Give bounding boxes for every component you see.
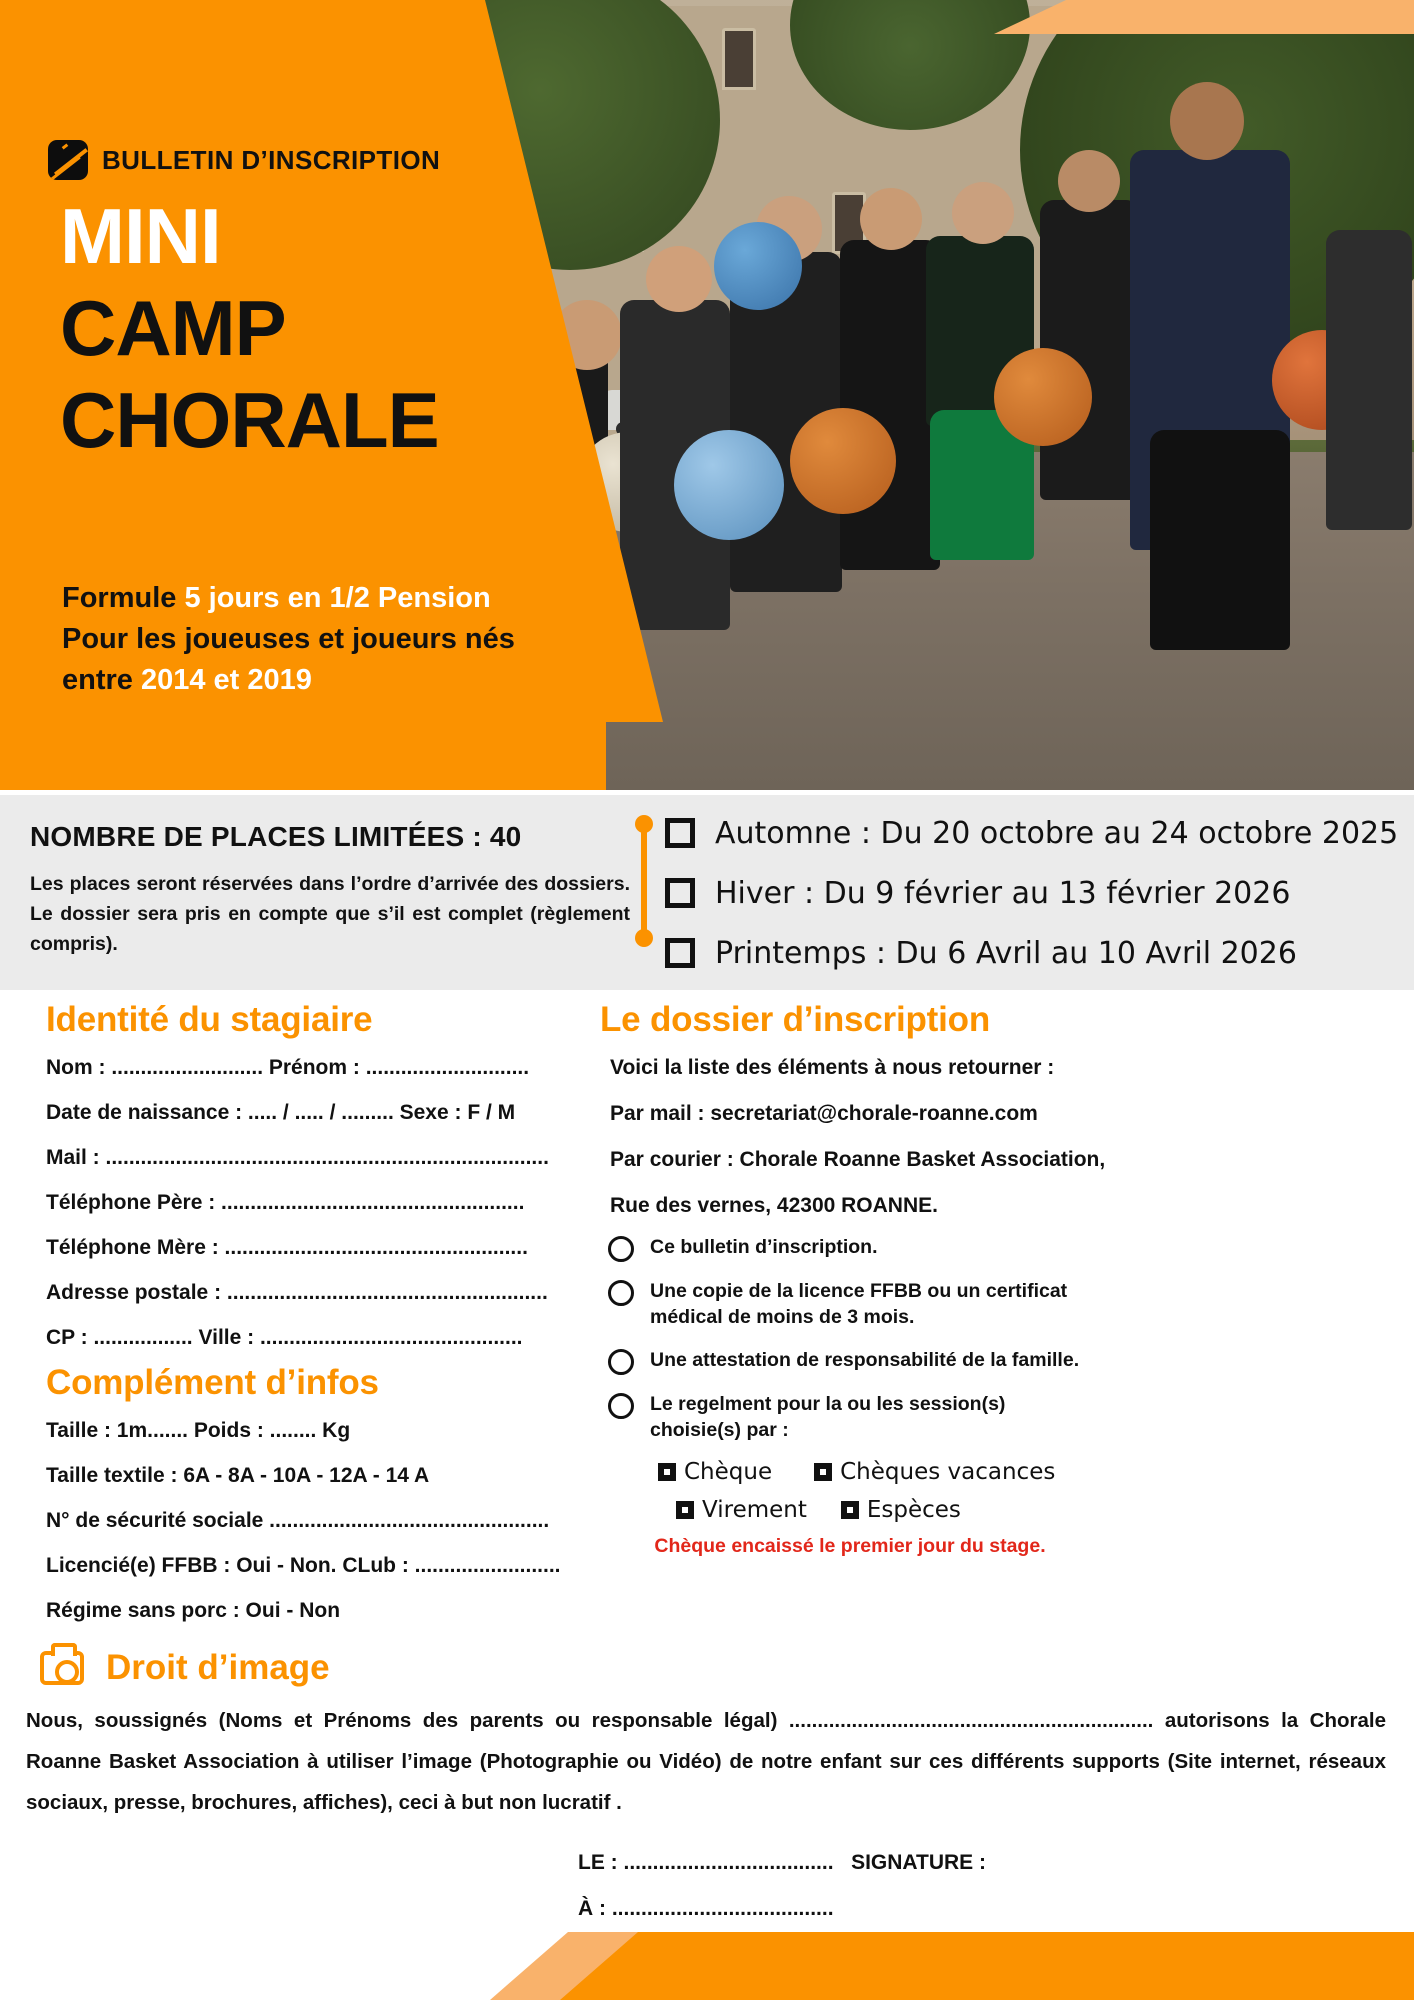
field-telephone-pere[interactable]: Téléphone Père : .......................…: [46, 1183, 598, 1222]
checklist-label-attestation: Une attestation de responsabilité de la …: [650, 1347, 1080, 1373]
checklist-circle-bulletin[interactable]: [608, 1236, 634, 1262]
payment-label-cheques-vacances: Chèques vacances: [840, 1459, 1055, 1485]
field-cp-ville[interactable]: CP : ................. Ville : .........…: [46, 1318, 598, 1357]
subtitle-formule-label: Formule: [62, 582, 184, 614]
field-adresse-postale[interactable]: Adresse postale : ......................…: [46, 1273, 598, 1312]
dossier-lead-1: Voici la liste des éléments à nous retou…: [610, 1048, 1120, 1088]
field-date-naissance-sexe[interactable]: Date de naissance : ..... / ..... / ....…: [46, 1093, 598, 1132]
checklist-label-reglement: Le regelment pour la ou les session(s) c…: [650, 1391, 1080, 1444]
payment-label-cheque: Chèque: [684, 1459, 772, 1485]
camera-icon: [40, 1651, 84, 1685]
checklist-item-licence[interactable]: Une copie de la licence FFBB ou un certi…: [600, 1278, 1120, 1331]
session-checkbox-automne[interactable]: [665, 818, 695, 848]
payment-checkbox-especes[interactable]: [841, 1501, 859, 1519]
connector-line: [635, 815, 653, 945]
section-title-complement: Complément d’infos: [46, 1363, 598, 1403]
droit-image-text: Nous, soussignés (Noms et Prénoms des pa…: [26, 1700, 1386, 1823]
title-line-1: MINI: [60, 190, 439, 282]
field-securite-sociale[interactable]: N° de sécurité sociale .................…: [46, 1501, 598, 1540]
right-form-column: Le dossier d’inscription Voici la liste …: [600, 1000, 1120, 1558]
signature-block: LE : ...................................…: [578, 1840, 986, 1932]
field-taille-textile[interactable]: Taille textile : 6A - 8A - 10A - 12A - 1…: [46, 1456, 598, 1495]
section-title-dossier: Le dossier d’inscription: [600, 1000, 1120, 1040]
places-title: NOMBRE DE PLACES LIMITÉES : 40: [30, 821, 650, 853]
place-label[interactable]: À : ....................................…: [578, 1886, 986, 1932]
field-taille-poids[interactable]: Taille : 1m....... Poids : ........ Kg: [46, 1411, 598, 1450]
date-label: LE : ...................................…: [578, 1851, 834, 1874]
payment-checkbox-cheque[interactable]: [658, 1463, 676, 1481]
session-row-printemps[interactable]: Printemps : Du 6 Avril au 10 Avril 2026: [665, 931, 1398, 975]
session-row-automne[interactable]: Automne : Du 20 octobre au 24 octobre 20…: [665, 811, 1398, 855]
subtitle-years-label: entre: [62, 664, 141, 696]
payment-option-especes[interactable]: Espèces: [841, 1497, 961, 1523]
places-note: Les places seront réservées dans l’ordre…: [30, 869, 630, 960]
section-title-identite: Identité du stagiaire: [46, 1000, 598, 1040]
session-checkbox-printemps[interactable]: [665, 938, 695, 968]
flyer-page: BULLETIN D’INSCRIPTION MINI CAMP CHORALE…: [0, 0, 1414, 2000]
payment-row-2: Virement Espèces: [600, 1497, 1120, 1523]
payment-option-virement[interactable]: Virement: [676, 1497, 807, 1523]
session-list: Automne : Du 20 octobre au 24 octobre 20…: [665, 811, 1398, 991]
payment-option-cheques-vacances[interactable]: Chèques vacances: [814, 1459, 1055, 1485]
field-licence-club[interactable]: Licencié(e) FFBB : Oui - Non. CLub : ...…: [46, 1546, 598, 1585]
footer-accent-orange: [560, 1932, 1414, 2000]
payment-warning: Chèque encaissé le premier jour du stage…: [600, 1535, 1100, 1558]
dossier-checklist: Ce bulletin d’inscription. Une copie de …: [600, 1234, 1120, 1443]
session-label-automne: Automne : Du 20 octobre au 24 octobre 20…: [715, 816, 1398, 851]
payment-option-cheque[interactable]: Chèque: [658, 1459, 772, 1485]
checklist-item-reglement[interactable]: Le regelment pour la ou les session(s) c…: [600, 1391, 1120, 1444]
signature-label: SIGNATURE :: [851, 1851, 986, 1874]
session-row-hiver[interactable]: Hiver : Du 9 février au 13 février 2026: [665, 871, 1398, 915]
title-line-2: CAMP: [60, 282, 439, 374]
checklist-item-bulletin[interactable]: Ce bulletin d’inscription.: [600, 1234, 1120, 1262]
field-mail[interactable]: Mail : .................................…: [46, 1138, 598, 1177]
payment-label-especes: Espèces: [867, 1497, 961, 1523]
title-line-3: CHORALE: [60, 374, 439, 466]
brand-label: BULLETIN D’INSCRIPTION: [102, 145, 440, 176]
section-title-droit-image: Droit d’image: [106, 1648, 330, 1688]
payment-row-1: Chèque Chèques vacances: [600, 1459, 1120, 1485]
left-form-column: Identité du stagiaire Nom : ............…: [38, 1000, 598, 1636]
hero-subtitle: Formule 5 jours en 1/2 Pension Pour les …: [62, 578, 532, 702]
checklist-circle-reglement[interactable]: [608, 1393, 634, 1419]
droit-image-header: Droit d’image: [40, 1648, 330, 1688]
checklist-label-bulletin: Ce bulletin d’inscription.: [650, 1234, 1080, 1260]
field-nom-prenom[interactable]: Nom : .......................... Prénom …: [46, 1048, 598, 1087]
field-regime-sans-porc[interactable]: Régime sans porc : Oui - Non: [46, 1591, 598, 1630]
dossier-lead-mail: Par mail : secretariat@chorale-roanne.co…: [610, 1094, 1120, 1134]
session-checkbox-hiver[interactable]: [665, 878, 695, 908]
page-title: MINI CAMP CHORALE: [60, 190, 439, 466]
brand-line: BULLETIN D’INSCRIPTION: [48, 140, 440, 180]
connector-dot-bottom: [635, 929, 653, 947]
dossier-lead-address: Rue des vernes, 42300 ROANNE.: [610, 1186, 1120, 1226]
hero-corner-accent: [994, 0, 1414, 34]
subtitle-years-value: 2014 et 2019: [141, 664, 312, 696]
connector-bar: [641, 823, 647, 939]
subtitle-formule-value: 5 jours en 1/2 Pension: [184, 582, 490, 614]
dossier-lead-courier: Par courier : Chorale Roanne Basket Asso…: [610, 1140, 1120, 1180]
session-label-hiver: Hiver : Du 9 février au 13 février 2026: [715, 876, 1290, 911]
field-telephone-mere[interactable]: Téléphone Mère : .......................…: [46, 1228, 598, 1267]
payment-label-virement: Virement: [702, 1497, 807, 1523]
sessions-band: NOMBRE DE PLACES LIMITÉES : 40 Les place…: [0, 795, 1414, 990]
payment-checkbox-virement[interactable]: [676, 1501, 694, 1519]
chorale-logo-icon: [48, 140, 88, 180]
payment-options: Chèque Chèques vacances Virement Espèces: [600, 1459, 1120, 1558]
checklist-circle-attestation[interactable]: [608, 1349, 634, 1375]
payment-checkbox-cheques-vacances[interactable]: [814, 1463, 832, 1481]
signature-line-1[interactable]: LE : ...................................…: [578, 1840, 986, 1886]
session-label-printemps: Printemps : Du 6 Avril au 10 Avril 2026: [715, 936, 1297, 971]
checklist-circle-licence[interactable]: [608, 1280, 634, 1306]
hero-section: BULLETIN D’INSCRIPTION MINI CAMP CHORALE…: [0, 0, 1414, 790]
checklist-label-licence: Une copie de la licence FFBB ou un certi…: [650, 1278, 1080, 1331]
places-block: NOMBRE DE PLACES LIMITÉES : 40 Les place…: [30, 821, 650, 960]
subtitle-audience: Pour les joueuses et joueurs nés: [62, 623, 515, 655]
checklist-item-attestation[interactable]: Une attestation de responsabilité de la …: [600, 1347, 1120, 1375]
